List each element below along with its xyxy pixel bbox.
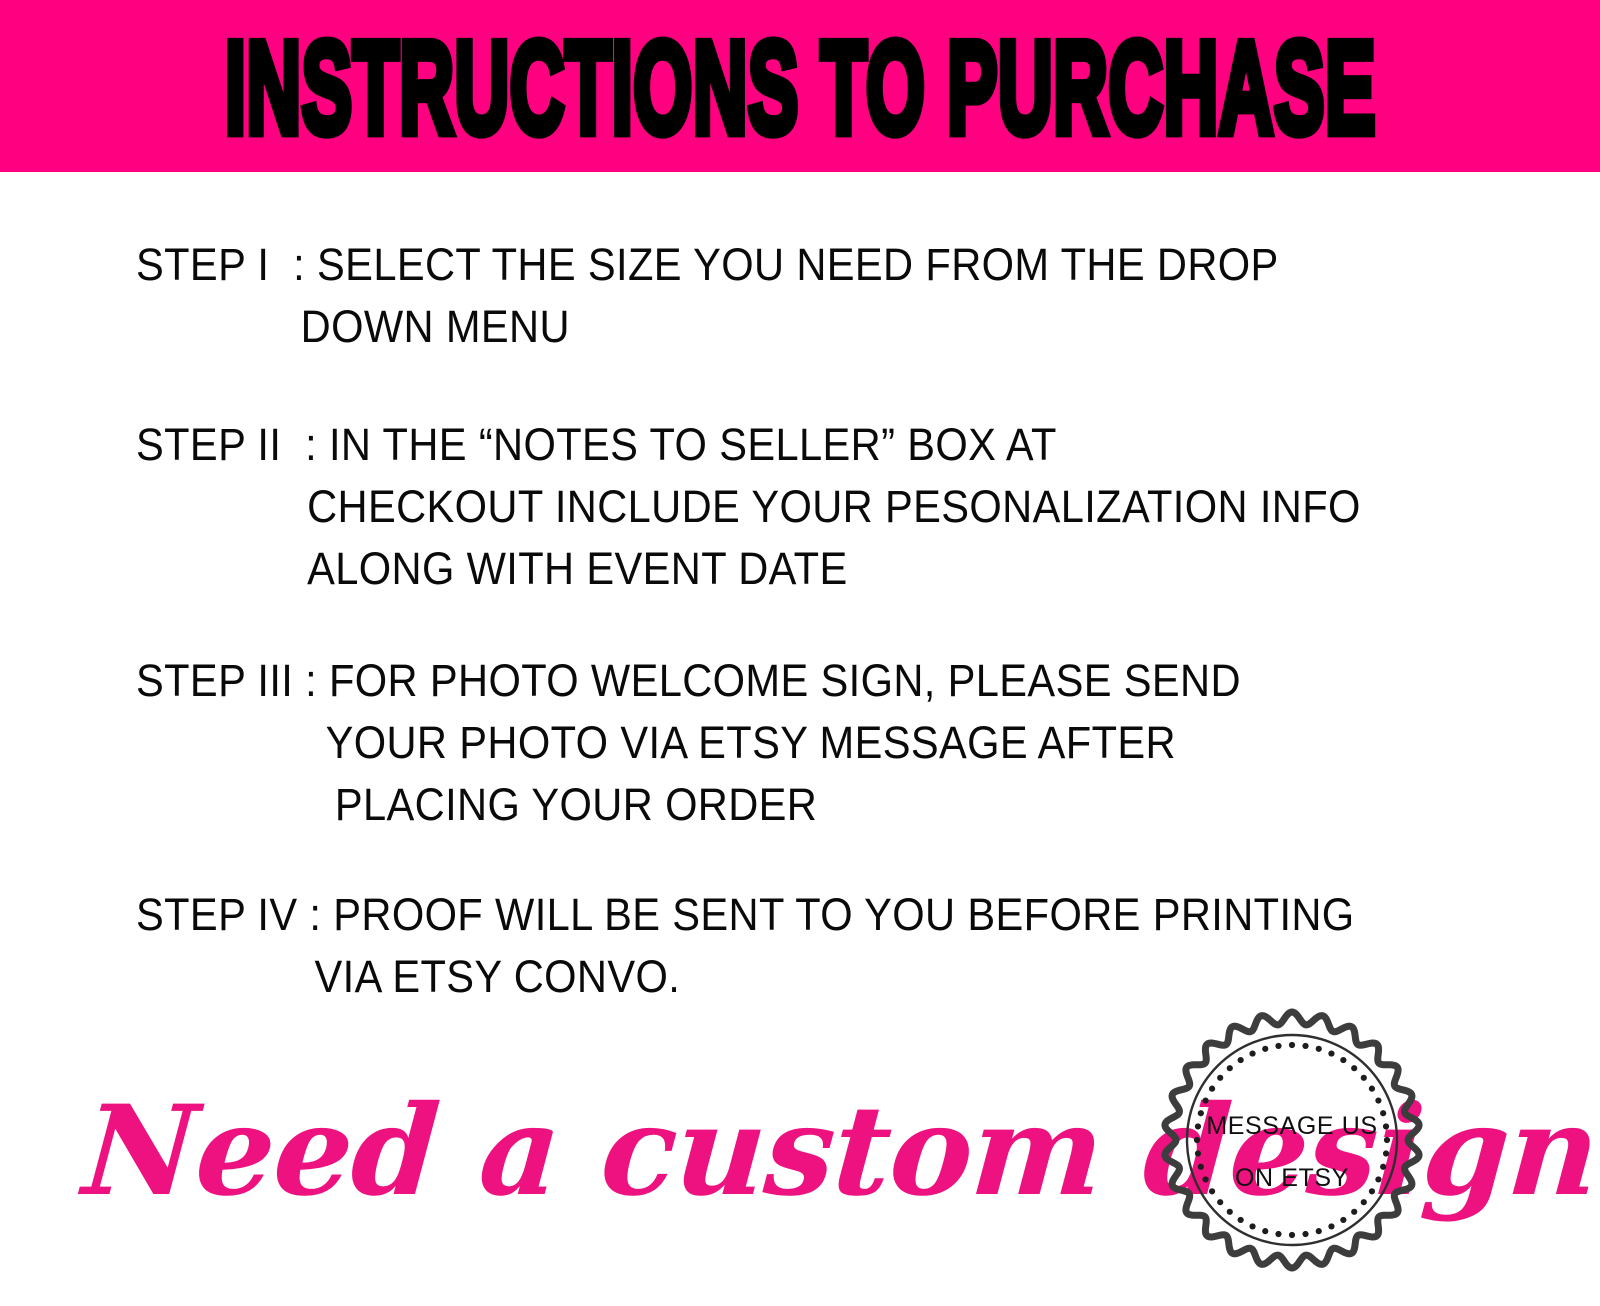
header-banner: INSTRUCTIONS TO PURCHASE	[0, 0, 1600, 172]
step-3-line-1: STEP III : FOR PHOTO WELCOME SIGN, PLEAS…	[136, 650, 1450, 712]
custom-design-tagline: Need a custom design?	[78, 1062, 1111, 1242]
badge-dotted-ring	[1194, 1042, 1390, 1238]
step-2-line-2: CHECKOUT INCLUDE YOUR PESONALIZATION INF…	[136, 476, 1450, 538]
badge-scallop-ring	[1165, 1012, 1419, 1268]
instruction-step-4: STEP IV : PROOF WILL BE SENT TO YOU BEFO…	[136, 884, 1556, 1008]
badge-line-1: MESSAGE US	[1206, 1112, 1377, 1140]
step-2-line-3: ALONG WITH EVENT DATE	[136, 538, 1450, 600]
message-us-badge[interactable]: MESSAGE US ON ETSY	[1158, 1006, 1426, 1274]
step-1-line-2: DOWN MENU	[136, 296, 1450, 358]
instruction-step-3: STEP III : FOR PHOTO WELCOME SIGN, PLEAS…	[136, 650, 1556, 836]
step-3-line-3: PLACING YOUR ORDER	[136, 774, 1450, 836]
page-title: INSTRUCTIONS TO PURCHASE	[224, 22, 1375, 153]
step-2-line-1: STEP II : IN THE “NOTES TO SELLER” BOX A…	[136, 414, 1450, 476]
step-4-line-1: STEP IV : PROOF WILL BE SENT TO YOU BEFO…	[136, 884, 1450, 946]
step-4-line-2: VIA ETSY CONVO.	[136, 946, 1450, 1008]
badge-line-2: ON ETSY	[1235, 1164, 1349, 1192]
instruction-step-1: STEP I : SELECT THE SIZE YOU NEED FROM T…	[136, 234, 1556, 358]
step-3-line-2: YOUR PHOTO VIA ETSY MESSAGE AFTER	[136, 712, 1450, 774]
instruction-step-2: STEP II : IN THE “NOTES TO SELLER” BOX A…	[136, 414, 1556, 600]
step-1-line-1: STEP I : SELECT THE SIZE YOU NEED FROM T…	[136, 234, 1450, 296]
badge-inner-circle	[1187, 1035, 1397, 1245]
